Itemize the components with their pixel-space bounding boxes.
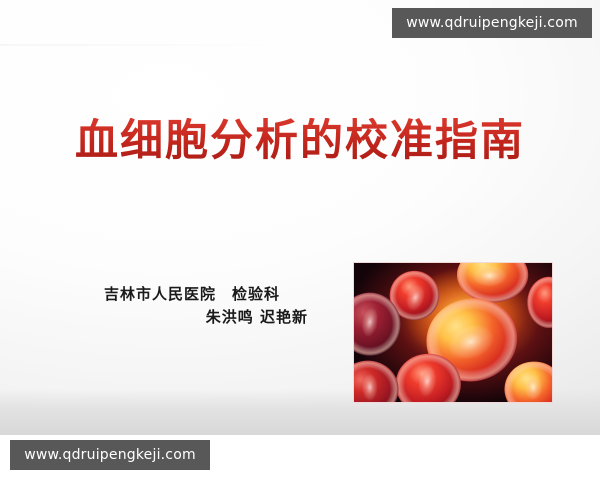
page-root: 血细胞分析的校准指南 吉林市人民医院 检验科 朱洪鸣 迟艳新 (0, 0, 600, 480)
watermark-top: www.qdruipengkeji.com (392, 8, 592, 38)
red-blood-cells-image (353, 262, 553, 403)
presentation-slide: 血细胞分析的校准指南 吉林市人民医院 检验科 朱洪鸣 迟艳新 (0, 0, 600, 435)
watermark-bottom: www.qdruipengkeji.com (10, 440, 210, 470)
subtitle-authors: 朱洪鸣 迟艳新 (104, 306, 320, 329)
slide-title: 血细胞分析的校准指南 (0, 118, 600, 165)
subtitle-organization: 吉林市人民医院 检验科 (104, 283, 320, 306)
slide-subtitle: 吉林市人民医院 检验科 朱洪鸣 迟艳新 (104, 283, 320, 330)
red-blood-cells-illustration (354, 263, 552, 402)
